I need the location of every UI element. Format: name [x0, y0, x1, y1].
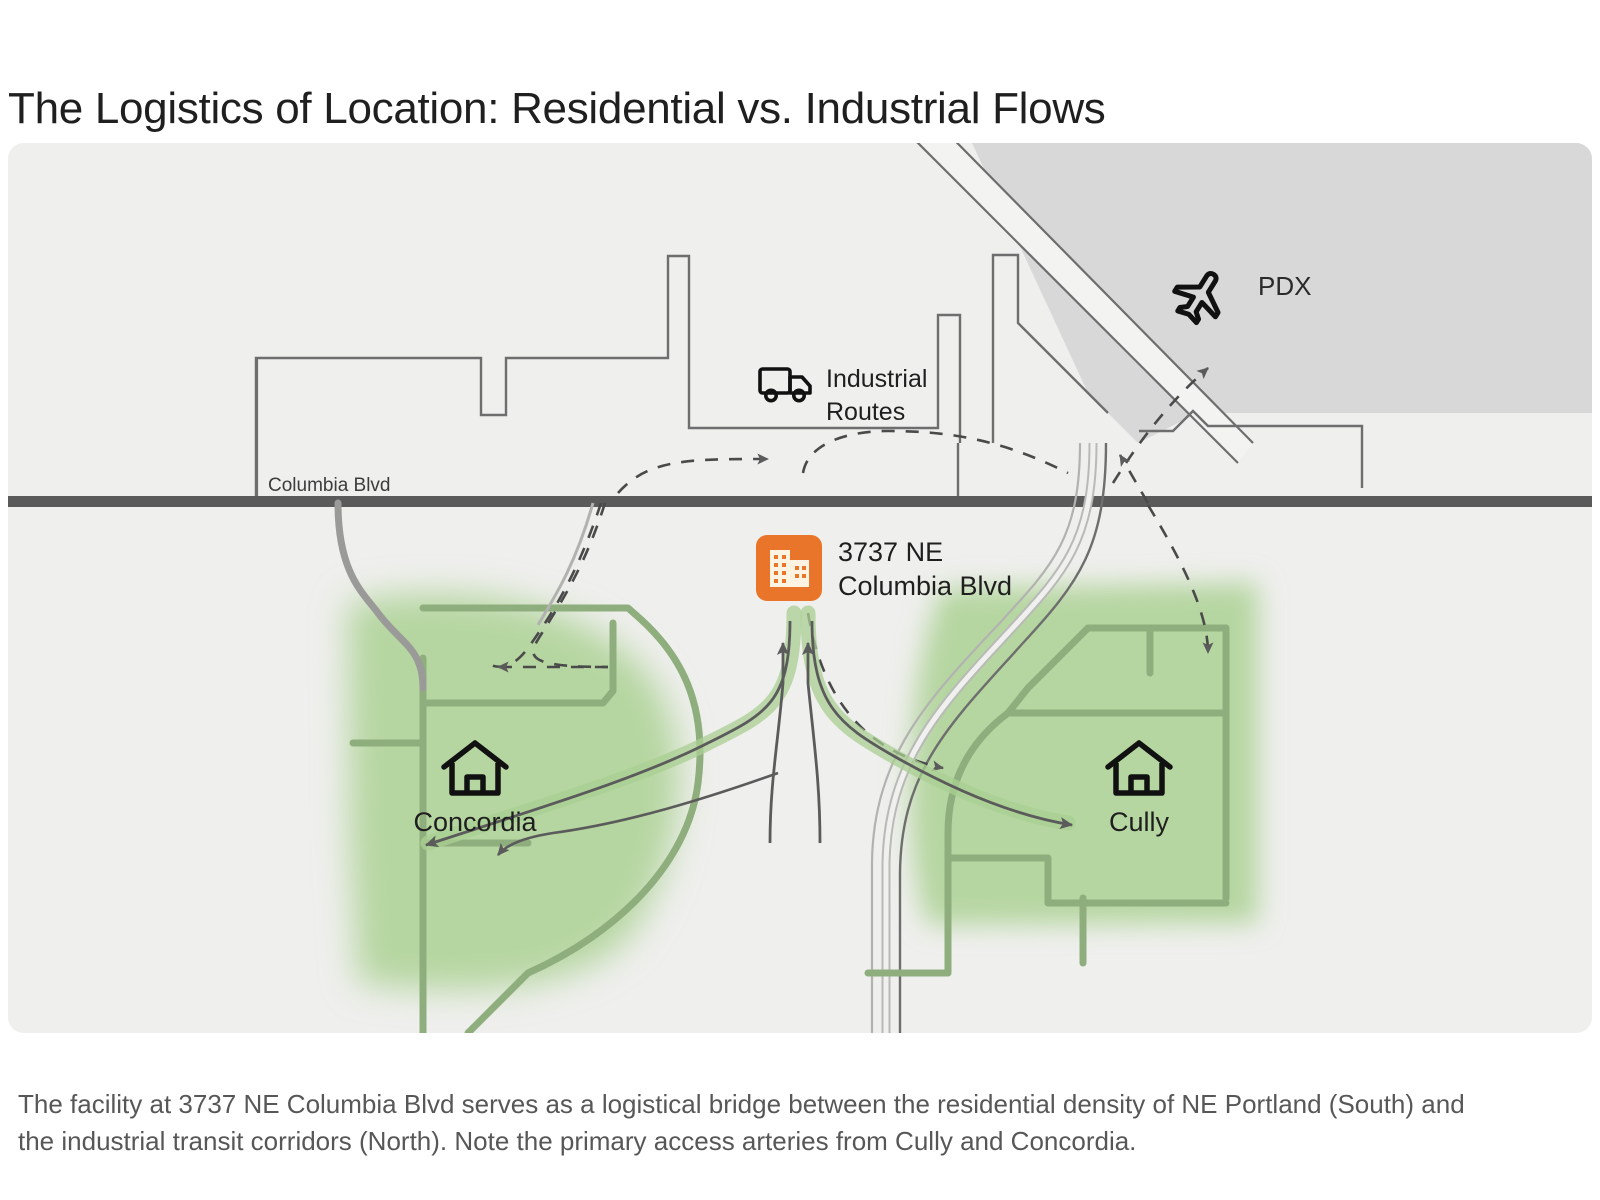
facility-label-line2: Columbia Blvd	[838, 571, 1012, 601]
map-canvas[interactable]: Columbia Blvd	[8, 143, 1592, 1033]
columbia-blvd-arterial	[8, 496, 1592, 507]
neighborhood-label-cully: Cully	[1109, 807, 1170, 837]
street-label-columbia-blvd: Columbia Blvd	[268, 475, 391, 496]
map-figure[interactable]: Columbia Blvd	[8, 143, 1592, 1033]
figure-caption: The facility at 3737 NE Columbia Blvd se…	[18, 1086, 1488, 1160]
facility-label-line1: 3737 NE	[838, 537, 943, 567]
neighborhood-label-concordia: Concordia	[413, 807, 537, 837]
page-title: The Logistics of Location: Residential v…	[8, 84, 1106, 134]
figure-page: The Logistics of Location: Residential v…	[0, 0, 1600, 1200]
legend-industrial-label-line1: Industrial	[826, 365, 927, 393]
legend-industrial-label-line2: Routes	[826, 398, 905, 426]
legend-pdx-label: PDX	[1258, 271, 1311, 301]
